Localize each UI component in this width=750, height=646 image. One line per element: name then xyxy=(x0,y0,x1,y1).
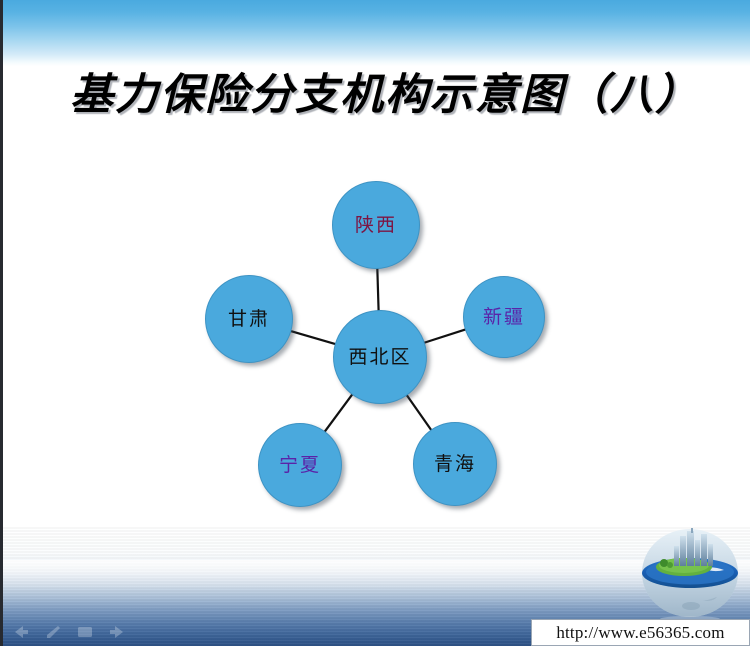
pen-button[interactable] xyxy=(44,624,62,640)
website-url-text: http://www.e56365.com xyxy=(556,623,724,643)
arrow-right-icon xyxy=(108,625,126,639)
diagram-node-ningxia[interactable]: 宁夏 xyxy=(258,423,342,507)
diagram-node-label: 西北区 xyxy=(348,348,411,367)
diagram-node-xinjiang[interactable]: 新疆 xyxy=(463,276,545,358)
page-title: 基力保险分支机构示意图（八） xyxy=(70,60,710,122)
presentation-slide: 基力保险分支机构示意图（八） 陕西新疆青海宁夏甘肃西北区 xyxy=(0,0,750,646)
diagram-node-gansu[interactable]: 甘肃 xyxy=(205,275,293,363)
slide-left-edge xyxy=(0,0,3,646)
diagram-connector-qinghai xyxy=(406,395,431,431)
globe-city-logo xyxy=(636,528,744,622)
next-slide-button[interactable] xyxy=(108,624,126,640)
diagram-node-label: 青海 xyxy=(434,455,476,474)
arrow-left-icon xyxy=(12,625,30,639)
diagram-node-label: 宁夏 xyxy=(279,456,321,475)
diagram-connector-xinjiang xyxy=(424,329,466,343)
diagram-center-node[interactable]: 西北区 xyxy=(333,310,427,404)
diagram-node-label: 新疆 xyxy=(483,308,525,327)
diagram-node-label: 甘肃 xyxy=(228,310,270,329)
website-url-box[interactable]: http://www.e56365.com xyxy=(531,619,750,646)
pen-icon xyxy=(44,625,62,639)
diagram-node-label: 陕西 xyxy=(355,216,397,235)
diagram-node-qinghai[interactable]: 青海 xyxy=(413,422,497,506)
previous-slide-button[interactable] xyxy=(12,624,30,640)
diagram-node-shaanxi[interactable]: 陕西 xyxy=(332,181,420,269)
diagram-connector-ningxia xyxy=(324,394,352,432)
presentation-toolbar[interactable] xyxy=(12,624,126,640)
diagram-connector-shaanxi xyxy=(377,268,378,311)
rectangle-icon xyxy=(76,625,94,639)
diagram-connector-gansu xyxy=(290,331,336,344)
menu-button[interactable] xyxy=(76,624,94,640)
